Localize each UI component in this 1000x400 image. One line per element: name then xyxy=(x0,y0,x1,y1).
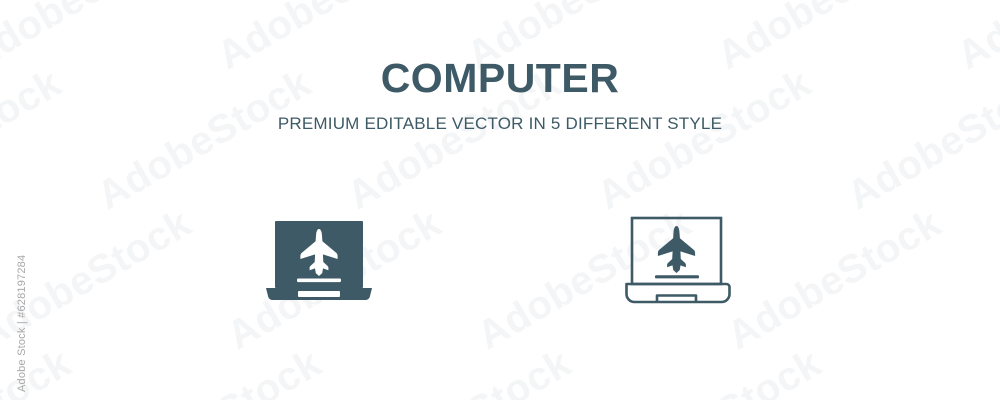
laptop-jet-outline-glyph xyxy=(622,200,742,320)
watermark-text: AdobeStock xyxy=(100,341,329,400)
laptop-jet-outline-icon[interactable] xyxy=(622,200,742,320)
laptop-jet-filled-glyph xyxy=(260,200,380,320)
watermark-text: AdobeStock xyxy=(600,341,829,400)
preview-canvas: AdobeStock AdobeStock AdobeStock AdobeSt… xyxy=(0,0,1000,400)
heading-block: COMPUTER PREMIUM EDITABLE VECTOR IN 5 DI… xyxy=(0,58,1000,132)
laptop-jet-filled-icon[interactable] xyxy=(260,200,380,320)
page-subtitle: PREMIUM EDITABLE VECTOR IN 5 DIFFERENT S… xyxy=(0,115,1000,132)
watermark-text: AdobeStock xyxy=(0,341,79,400)
icon-variant-row xyxy=(0,200,1000,320)
watermark-text: AdobeStock xyxy=(350,341,579,400)
stock-credit-label: Adobe Stock | #628197284 xyxy=(16,255,28,392)
page-title: COMPUTER xyxy=(0,58,1000,99)
